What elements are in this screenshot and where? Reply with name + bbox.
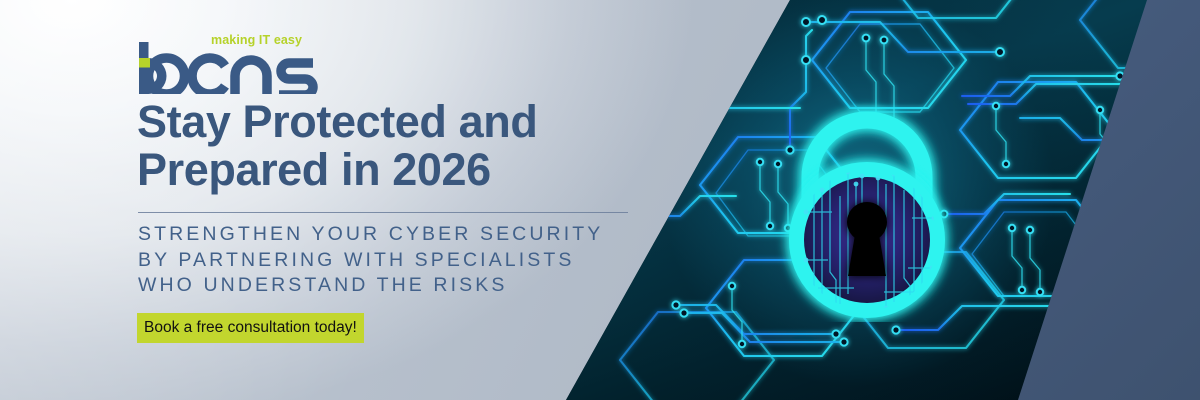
padlock-icon xyxy=(762,72,972,322)
headline-line-1: Stay Protected and xyxy=(137,98,657,146)
subheading: STRENGTHEN YOUR CYBER SECURITY BY PARTNE… xyxy=(138,222,658,299)
subheading-line-2: BY PARTNERING WITH SPECIALISTS xyxy=(138,248,658,274)
page-title: Stay Protected and Prepared in 2026 xyxy=(137,98,657,194)
divider-rule xyxy=(138,212,628,213)
headline-line-2: Prepared in 2026 xyxy=(137,146,657,194)
content-column: making IT easy Stay Protected and Prepar… xyxy=(137,0,657,400)
bcns-logotype-icon xyxy=(137,42,337,94)
subheading-line-3: WHO UNDERSTAND THE RISKS xyxy=(138,273,658,299)
marketing-banner: making IT easy Stay Protected and Prepar… xyxy=(0,0,1200,400)
book-consultation-button[interactable]: Book a free consultation today! xyxy=(137,313,364,343)
subheading-line-1: STRENGTHEN YOUR CYBER SECURITY xyxy=(138,222,658,248)
brand-logo[interactable]: making IT easy xyxy=(137,28,367,90)
